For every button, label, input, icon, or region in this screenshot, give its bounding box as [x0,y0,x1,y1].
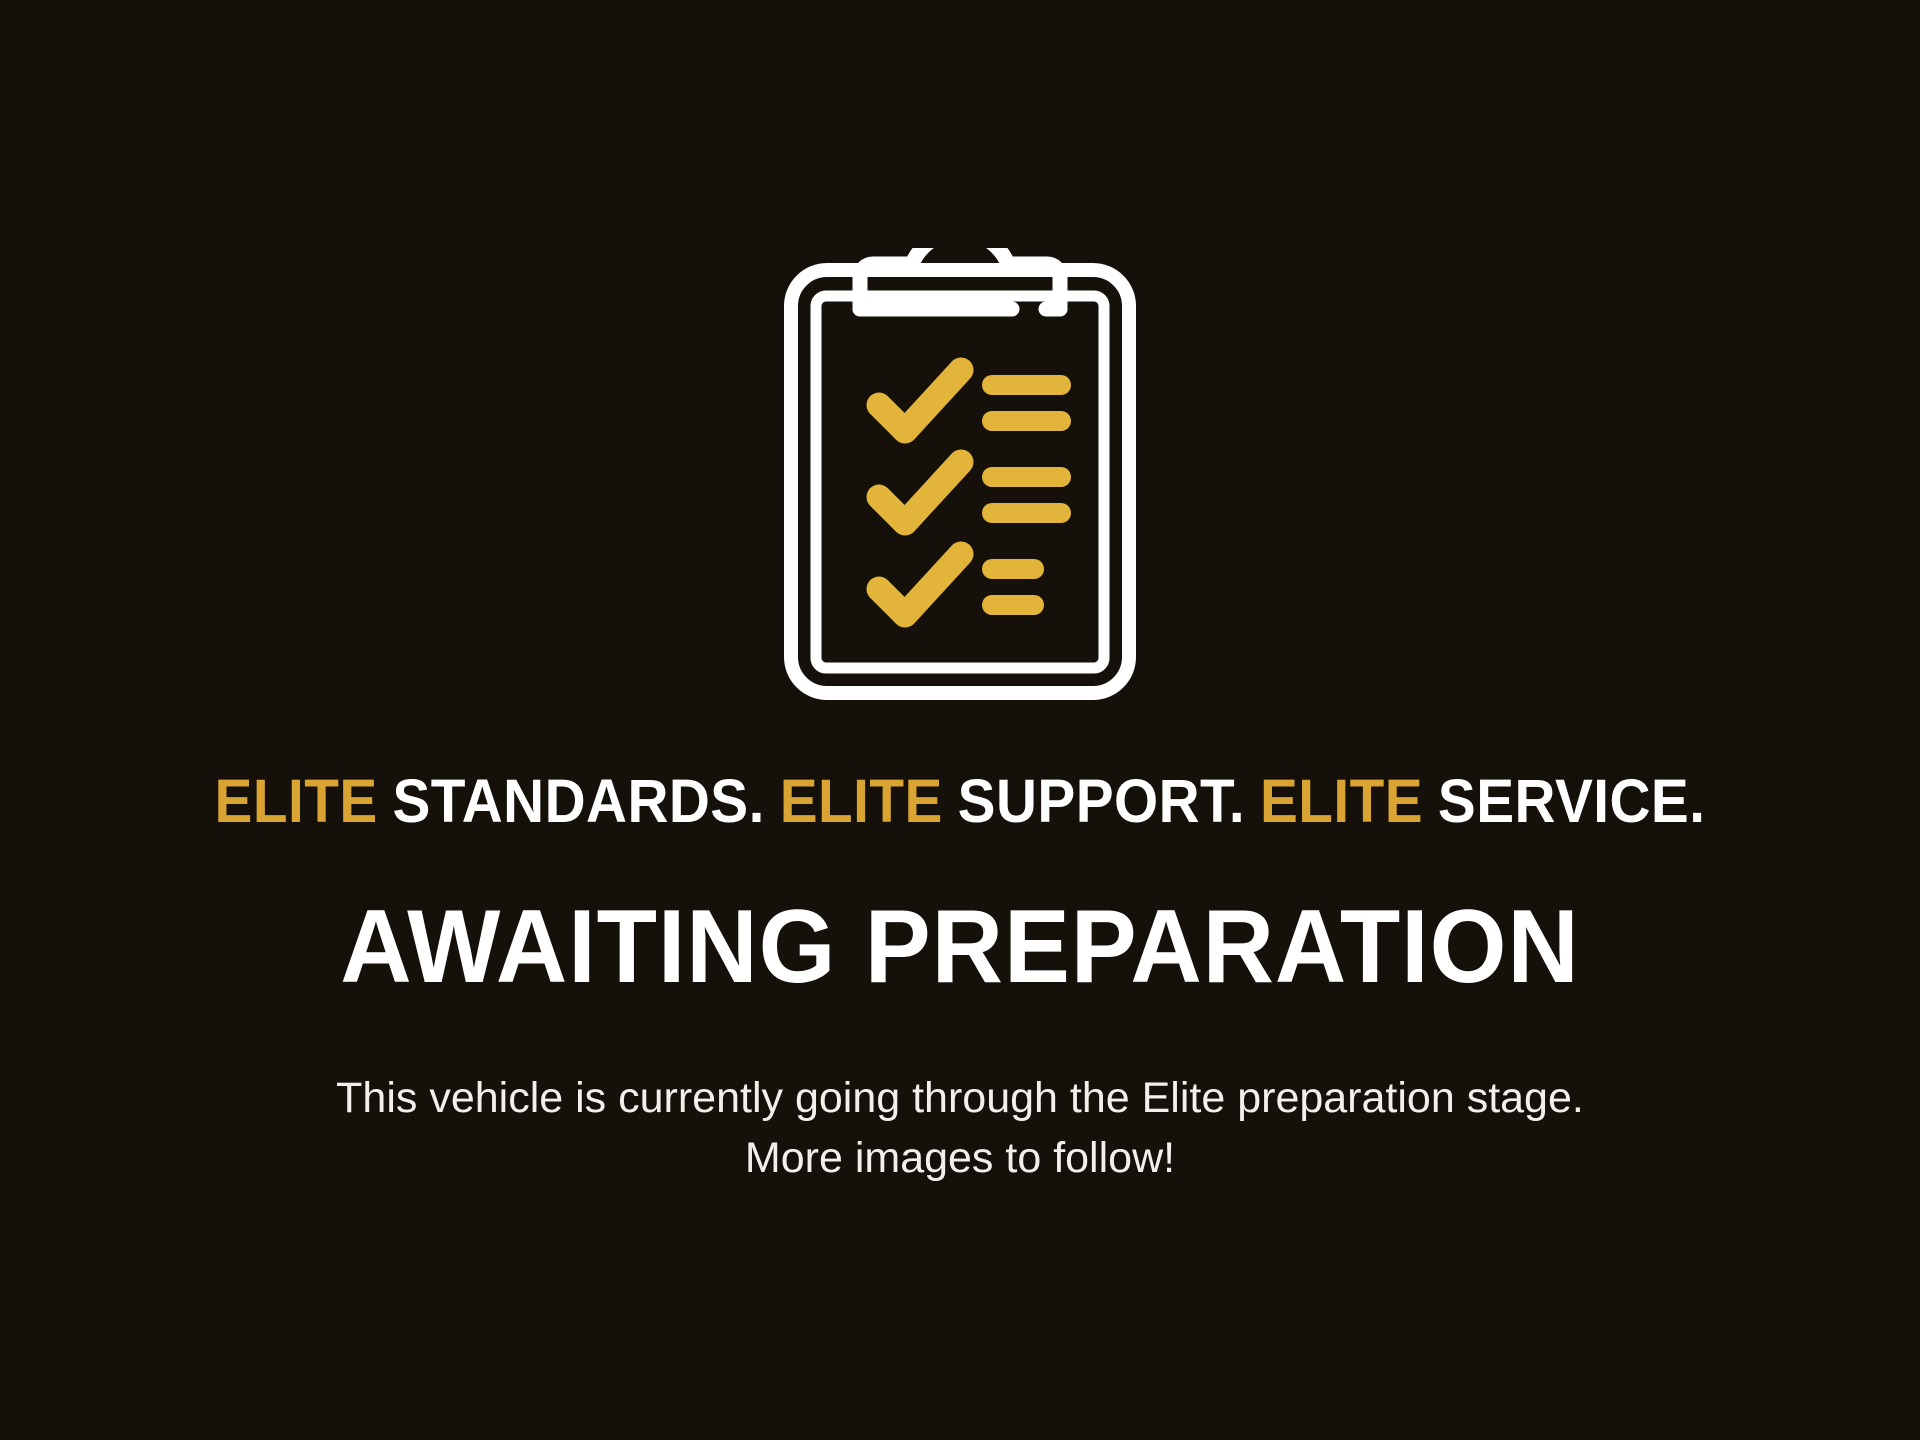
checklist-check-3 [879,554,961,615]
clipboard-checklist-icon [0,248,1920,700]
status-description-line-1: This vehicle is currently going through … [110,1068,1810,1128]
tagline-segment-support: SUPPORT. [958,767,1245,835]
checklist-check-2 [879,462,961,523]
status-description-line-2: More images to follow! [110,1128,1810,1188]
tagline-segment-standards: STANDARDS. [392,767,764,835]
tagline-segment-elite-3: ELITE [1260,767,1423,835]
tagline-segment-service: SERVICE. [1438,767,1706,835]
status-heading: AWAITING PREPARATION [48,885,1872,1009]
tagline-segment-elite-1: ELITE [215,767,378,835]
status-description: This vehicle is currently going through … [110,1068,1810,1188]
awaiting-preparation-placeholder: ELITESTANDARDS.ELITESUPPORT.ELITESERVICE… [0,0,1920,1440]
brand-tagline: ELITESTANDARDS.ELITESUPPORT.ELITESERVICE… [67,765,1853,837]
checklist-check-1 [879,370,961,431]
tagline-segment-elite-2: ELITE [780,767,943,835]
